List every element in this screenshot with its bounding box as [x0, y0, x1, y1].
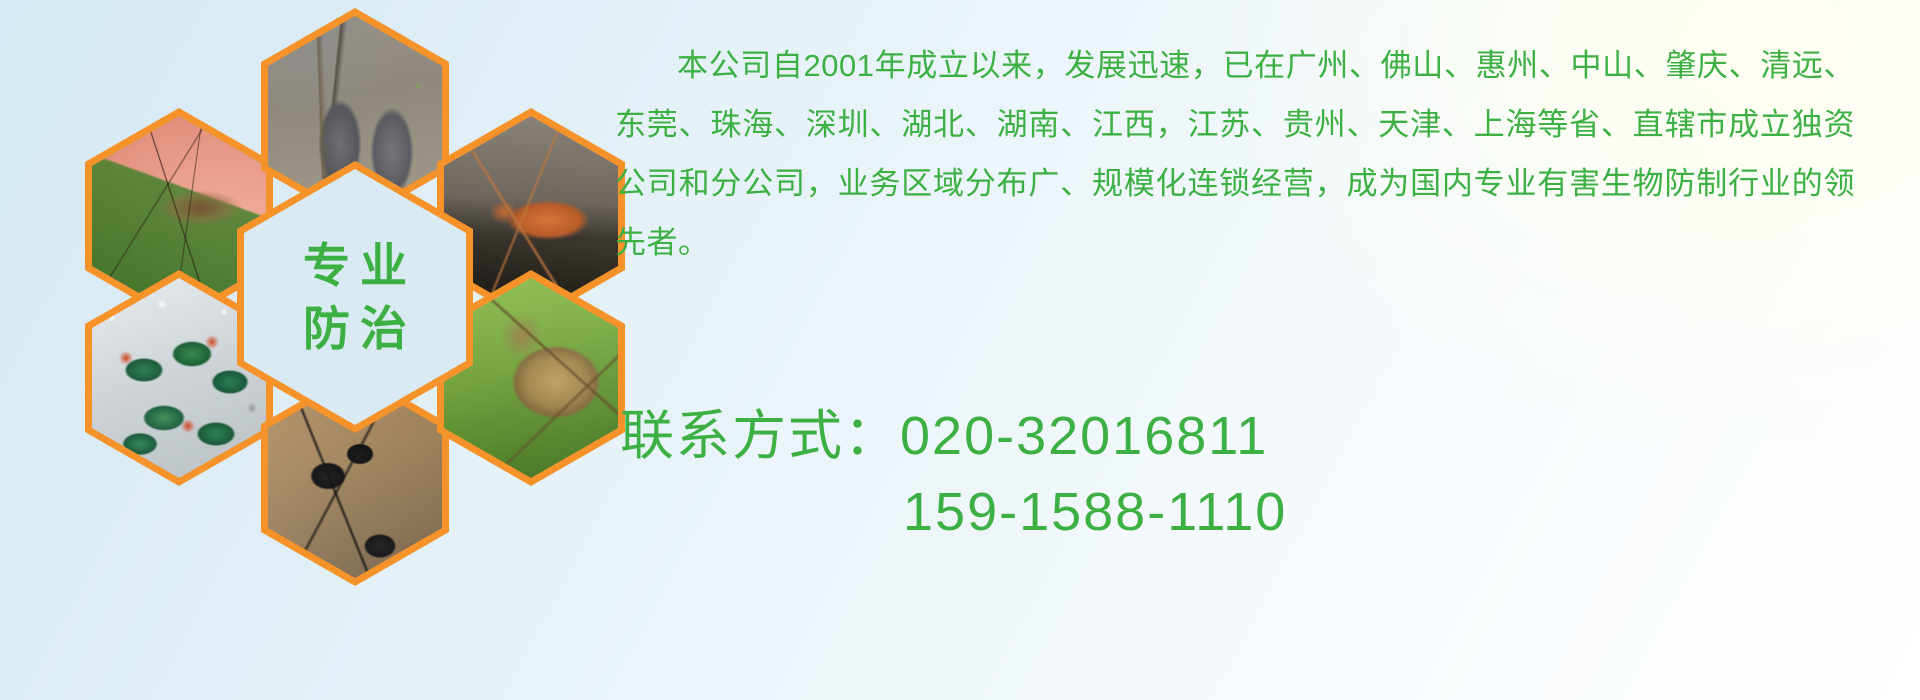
honeycomb-image-cluster: 专业 防治 — [85, 0, 605, 600]
center-label-line-1: 专业 — [293, 242, 417, 289]
promo-banner: 专业 防治 本公司自2001年成立以来，发展迅速，已在广州、佛山、惠州、中山、肇… — [0, 0, 1920, 700]
contact-phone-primary[interactable]: 020-32016811 — [900, 406, 1268, 466]
contact-secondary-line: 159-1588-1110 — [620, 474, 1870, 550]
hex-inner-center: 专业 防治 — [244, 169, 466, 425]
company-intro-paragraph: 本公司自2001年成立以来，发展迅速，已在广州、佛山、惠州、中山、肇庆、清远、东… — [615, 36, 1855, 272]
contact-block: 联系方式：020-32016811 159-1588-1110 — [620, 398, 1870, 550]
contact-label: 联系方式： — [620, 406, 900, 466]
contact-phone-secondary[interactable]: 159-1588-1110 — [903, 482, 1287, 542]
company-intro-block: 本公司自2001年成立以来，发展迅速，已在广州、佛山、惠州、中山、肇庆、清远、东… — [615, 36, 1855, 272]
center-label: 专业 防治 — [244, 169, 466, 425]
contact-primary-line: 联系方式：020-32016811 — [620, 398, 1870, 474]
center-label-line-2: 防治 — [293, 305, 417, 352]
